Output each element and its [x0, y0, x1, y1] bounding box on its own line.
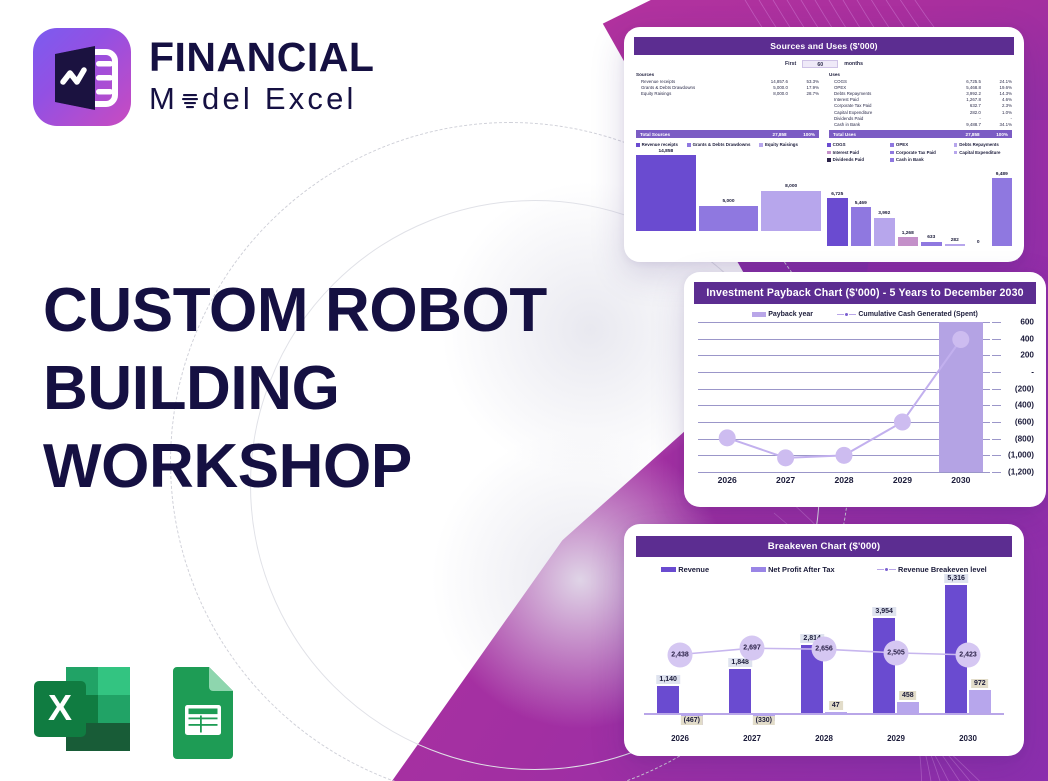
- axis-tick: [992, 472, 1001, 473]
- legend-label: Debts Repayments: [959, 142, 999, 147]
- legend-swatch: [827, 151, 831, 155]
- data-point-breakeven: 2,656: [812, 637, 837, 662]
- axis-tick: [992, 339, 1001, 340]
- legend-breakeven-level: Revenue Breakeven level: [877, 565, 987, 574]
- y-axis-tick-label: -: [1031, 368, 1034, 377]
- uses-total-value: 27,858: [933, 132, 980, 137]
- data-point: [952, 331, 969, 348]
- period-selector-row: First 60 months: [634, 60, 1014, 68]
- legend-swatch: [890, 158, 894, 162]
- uses-table: COGS6,725.524.1%OPEX5,468.819.6%Debts Re…: [829, 79, 1012, 128]
- brand-name-line2: M del Excel: [149, 82, 374, 116]
- payback-title: Investment Payback Chart ($'000) - 5 Yea…: [694, 282, 1036, 304]
- breakeven-plot-area: 1,140(467)1,848(330)2,814473,9544585,316…: [644, 578, 1004, 728]
- y-axis-tick-label: (1,200): [1008, 468, 1034, 477]
- poster-canvas: FINANCIAL M del Excel CUSTOM ROBOT BUILD…: [0, 0, 1048, 781]
- payback-line-series: [698, 322, 990, 472]
- legend-label-payback-year: Payback year: [768, 311, 813, 318]
- legend-npat: Net Profit After Tax: [751, 565, 835, 574]
- axis-tick: [992, 422, 1001, 423]
- y-axis-tick-label: (600): [1015, 418, 1034, 427]
- legend-revenue: Revenue: [661, 565, 709, 574]
- uses-legend: COGSOPEXDebts RepaymentsInterest PaidCor…: [827, 142, 1012, 162]
- bar-column: 3,992: [874, 162, 895, 246]
- legend-swatch-line: [837, 313, 856, 316]
- uses-total-row: Total Uses 27,858 100%: [829, 130, 1012, 138]
- sources-bars: 14,8585,0008,000: [636, 147, 821, 231]
- legend-swatch: [759, 143, 763, 147]
- axis-tick: [992, 389, 1001, 390]
- bar-value-label: 633: [927, 235, 935, 240]
- bar: [921, 242, 942, 247]
- bar-value-label: 5,000: [723, 199, 735, 204]
- legend-swatch: [636, 143, 640, 147]
- sources-uses-title: Sources and Uses ($'000): [634, 37, 1014, 55]
- uses-total-label: Total Uses: [831, 132, 933, 137]
- x-axis-tick-label: 2028: [815, 475, 873, 485]
- brand-name-line2-pre: M: [149, 82, 178, 116]
- data-point: [894, 414, 911, 431]
- sources-uses-charts: Revenue receiptsGrants & Debts Drawdowns…: [634, 138, 1014, 246]
- gridline: [698, 472, 990, 473]
- bar-column: 14,858: [636, 147, 696, 231]
- axis-tick: [992, 355, 1001, 356]
- legend-swatch: [890, 151, 894, 155]
- brand-name-line2-post: del Excel: [202, 82, 357, 116]
- legend-swatch: [890, 143, 894, 147]
- bar-value-label: 8,000: [785, 184, 797, 189]
- legend-item: COGS: [827, 142, 885, 147]
- google-sheets-icon: [167, 663, 239, 759]
- months-label: months: [844, 61, 863, 67]
- y-axis-tick-label: (1,000): [1008, 451, 1034, 460]
- bar: [992, 178, 1013, 246]
- x-axis-tick-label: 2029: [873, 475, 931, 485]
- headline-line-3: WORKSHOP: [43, 428, 547, 506]
- x-axis-tick-label: 2026: [698, 475, 756, 485]
- legend-label: Capital Expenditure: [959, 150, 1000, 155]
- legend-cumulative-cash: Cumulative Cash Generated (Spent): [837, 311, 978, 318]
- payback-plot-area: 600400200-(200)(400)(600)(800)(1,000)(1,…: [698, 322, 990, 472]
- bar-column: 8,000: [761, 147, 821, 231]
- card-sources-and-uses: Sources and Uses ($'000) First 60 months…: [624, 27, 1024, 262]
- microsoft-excel-icon: X: [30, 659, 135, 759]
- legend-swatch: [954, 143, 958, 147]
- brand-name-line1: FINANCIAL: [149, 37, 374, 78]
- x-axis-tick-label: 2030: [932, 734, 1004, 743]
- bar: [636, 155, 696, 231]
- legend-item: Interest Paid: [827, 150, 885, 155]
- bar-value-label: 1,268: [902, 231, 914, 236]
- first-label: First: [785, 61, 796, 67]
- card-investment-payback: Investment Payback Chart ($'000) - 5 Yea…: [684, 272, 1046, 507]
- payback-legend: Payback year Cumulative Cash Generated (…: [694, 311, 1036, 318]
- y-axis-tick-label: (200): [1015, 384, 1034, 393]
- sources-total-label: Total Sources: [638, 132, 740, 137]
- legend-swatch-band: [752, 312, 766, 317]
- table-spacer-row: [636, 121, 819, 127]
- bar: [945, 244, 966, 246]
- data-point-breakeven: 2,438: [668, 642, 693, 667]
- uses-column: Uses COGS6,725.524.1%OPEX5,468.819.6%Deb…: [829, 72, 1012, 138]
- axis-tick: [992, 455, 1001, 456]
- uses-row-label: Cash in Bank: [829, 121, 933, 127]
- y-axis-tick-label: (400): [1015, 401, 1034, 410]
- legend-label-cumulative-cash: Cumulative Cash Generated (Spent): [858, 311, 977, 318]
- y-axis-tick-label: (800): [1015, 434, 1034, 443]
- legend-item: Capital Expenditure: [954, 150, 1012, 155]
- sources-total-value: 27,858: [740, 132, 787, 137]
- x-axis-tick-label: 2029: [860, 734, 932, 743]
- data-point-breakeven: 2,697: [740, 636, 765, 661]
- legend-label: OPEX: [896, 142, 908, 147]
- legend-item: Debts Repayments: [954, 142, 1012, 147]
- legend-swatch-breakeven-line: [877, 568, 896, 571]
- legend-swatch: [827, 143, 831, 147]
- bar-column: 6,725: [827, 162, 848, 246]
- legend-label: Corporate Tax Paid: [896, 150, 936, 155]
- legend-swatch: [954, 151, 958, 155]
- bar: [898, 237, 919, 246]
- legend-swatch-npat: [751, 567, 766, 572]
- axis-tick: [992, 322, 1001, 323]
- data-point: [836, 447, 853, 464]
- y-axis-tick-label: 400: [1020, 334, 1034, 343]
- legend-swatch-revenue: [661, 567, 676, 572]
- uses-total-pct: 100%: [980, 132, 1010, 137]
- sources-header: Sources: [636, 72, 819, 77]
- x-axis-tick-label: 2028: [788, 734, 860, 743]
- bar: [874, 218, 895, 247]
- bar-value-label: 3,992: [878, 211, 890, 216]
- headline-line-1: CUSTOM ROBOT: [43, 272, 547, 350]
- table-row: Cash in Bank9,488.734.1%: [829, 121, 1012, 127]
- axis-tick: [992, 439, 1001, 440]
- bar: [827, 198, 848, 246]
- legend-label-revenue: Revenue: [678, 565, 709, 574]
- sources-uses-tables: Sources Revenue receipts14,857.653.3%Gra…: [634, 72, 1014, 138]
- data-point-breakeven: 2,423: [956, 642, 981, 667]
- bar: [699, 206, 759, 232]
- legend-item: OPEX: [890, 142, 948, 147]
- svg-text:X: X: [48, 687, 72, 728]
- uses-row-value: 9,488.7: [933, 121, 981, 127]
- uses-header: Uses: [829, 72, 1012, 77]
- bar-column: 282: [945, 162, 966, 246]
- bar-value-label: 282: [951, 238, 959, 243]
- data-point: [719, 429, 736, 446]
- data-point-breakeven: 2,505: [884, 640, 909, 665]
- x-axis-tick-label: 2030: [932, 475, 990, 485]
- legend-payback-year: Payback year: [752, 311, 813, 318]
- bar-column: 5,469: [851, 162, 872, 246]
- legend-label-breakeven-level: Revenue Breakeven level: [898, 565, 987, 574]
- card-breakeven-chart: Breakeven Chart ($'000) Revenue Net Prof…: [624, 524, 1024, 756]
- bar-value-label: 5,469: [855, 201, 867, 206]
- sources-table: Revenue receipts14,857.653.3%Grants & De…: [636, 79, 819, 128]
- bar-value-label: 6,725: [831, 192, 843, 197]
- legend-item: Corporate Tax Paid: [890, 150, 948, 155]
- uses-bar-chart: COGSOPEXDebts RepaymentsInterest PaidCor…: [827, 142, 1012, 246]
- legend-label-npat: Net Profit After Tax: [768, 565, 835, 574]
- bar-column: 633: [921, 162, 942, 246]
- axis-tick: [992, 405, 1001, 406]
- file-format-icons: X: [30, 659, 239, 759]
- bar-column: 9,489: [992, 162, 1013, 246]
- y-axis-tick-label: 200: [1020, 351, 1034, 360]
- breakeven-title: Breakeven Chart ($'000): [636, 536, 1012, 557]
- bar-value-label: 0: [977, 240, 980, 245]
- bar-value-label: 9,489: [996, 172, 1008, 177]
- bar-column: 5,000: [699, 147, 759, 231]
- bar-column: 0: [968, 162, 989, 246]
- legend-swatch: [687, 143, 691, 147]
- x-axis-tick-label: 2027: [756, 475, 814, 485]
- headline-line-2: BUILDING: [43, 350, 547, 428]
- data-point: [777, 449, 794, 466]
- payback-x-axis: 20262027202820292030: [698, 475, 990, 485]
- legend-label: COGS: [833, 142, 846, 147]
- bar: [761, 191, 821, 232]
- y-axis-tick-label: 600: [1020, 318, 1034, 327]
- legend-label: Interest Paid: [833, 150, 859, 155]
- bar-column: 1,268: [898, 162, 919, 246]
- axis-tick: [992, 372, 1001, 373]
- uses-bars: 6,7255,4693,9921,26863328209,489: [827, 162, 1012, 246]
- brand-logo: FINANCIAL M del Excel: [33, 28, 374, 126]
- sources-column: Sources Revenue receipts14,857.653.3%Gra…: [636, 72, 819, 138]
- sources-total-row: Total Sources 27,858 100%: [636, 130, 819, 138]
- uses-row-pct: 34.1%: [981, 121, 1012, 127]
- bar-stack-o-icon: [179, 89, 201, 111]
- sources-total-pct: 100%: [787, 132, 817, 137]
- x-axis-tick-label: 2026: [644, 734, 716, 743]
- breakeven-legend: Revenue Net Profit After Tax Revenue Bre…: [636, 565, 1012, 574]
- sources-bar-chart: Revenue receiptsGrants & Debts Drawdowns…: [636, 142, 821, 246]
- page-title: CUSTOM ROBOT BUILDING WORKSHOP: [43, 272, 547, 506]
- legend-swatch: [827, 158, 831, 162]
- x-axis-tick-label: 2027: [716, 734, 788, 743]
- bar: [851, 207, 872, 246]
- bar-value-label: 14,858: [659, 149, 674, 154]
- financial-document-chart-icon: [33, 28, 131, 126]
- months-input[interactable]: 60: [802, 60, 838, 68]
- breakeven-x-axis: 20262027202820292030: [644, 734, 1004, 743]
